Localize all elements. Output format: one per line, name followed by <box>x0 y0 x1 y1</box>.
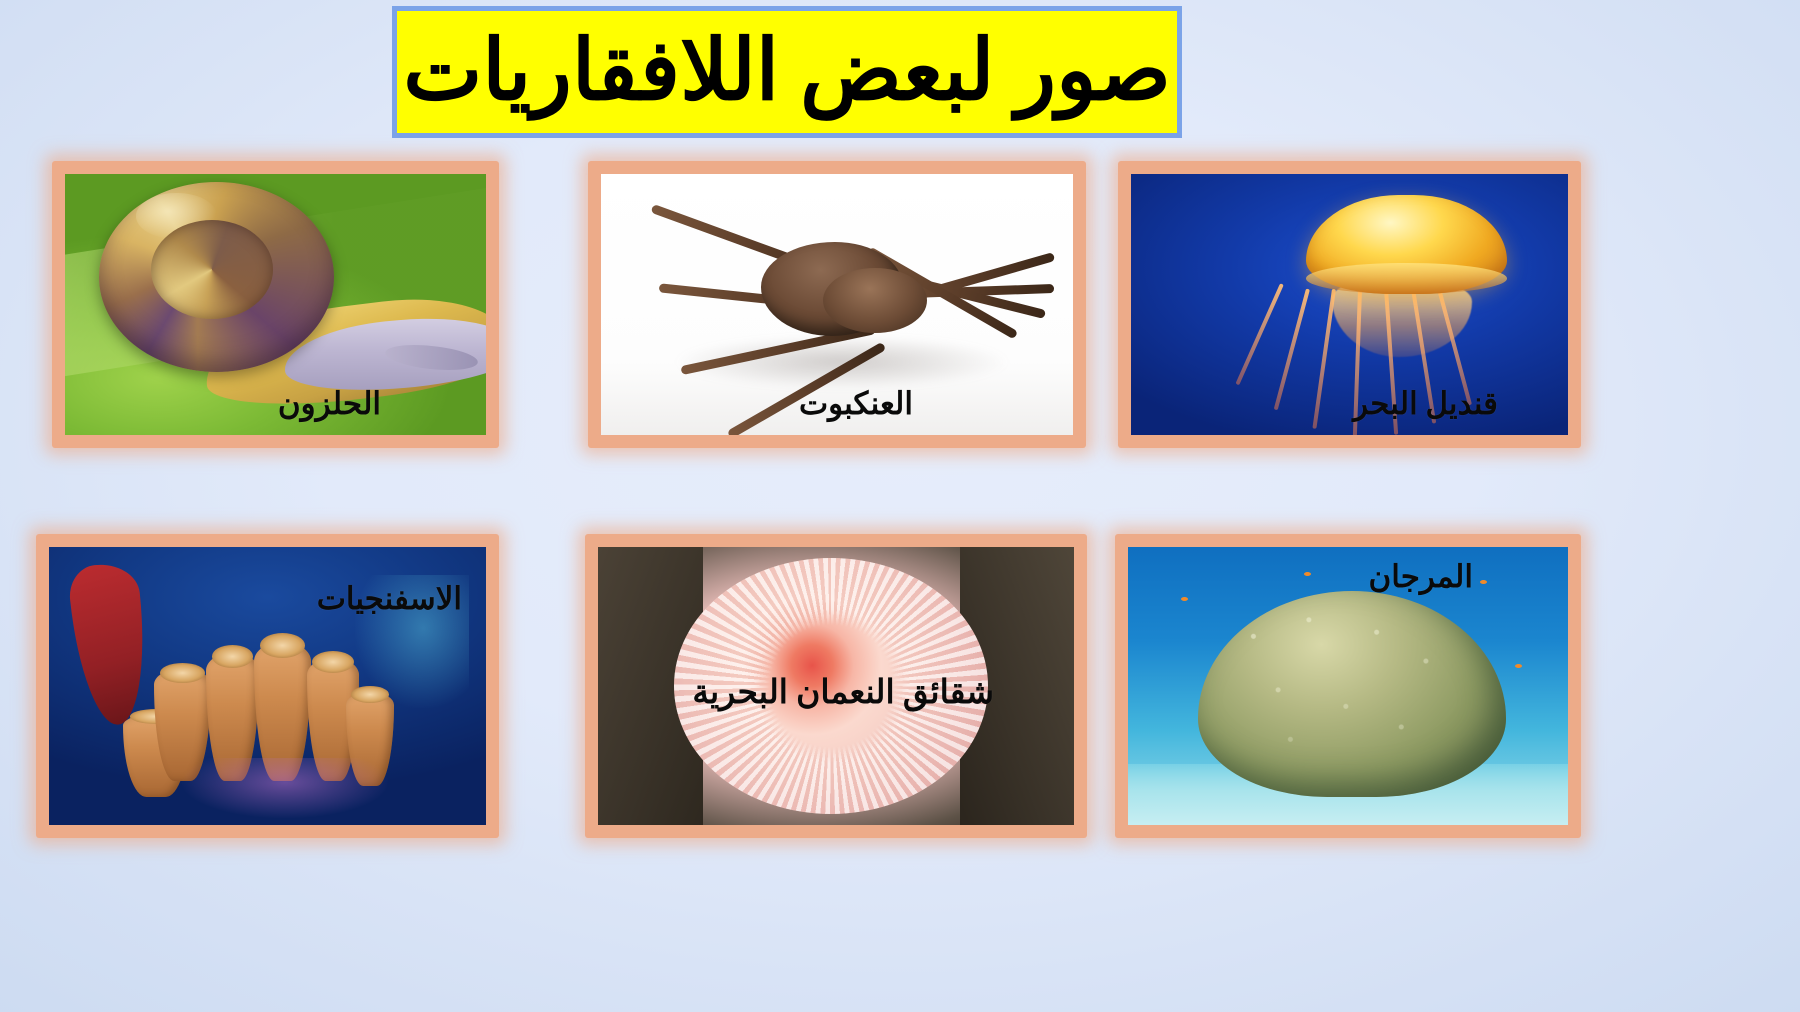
jellyfish-tentacle-6 <box>1273 288 1309 410</box>
fish-icon-2 <box>1480 580 1487 584</box>
caption-sponges: الاسفنجيات <box>317 581 462 617</box>
shell-highlight <box>136 193 216 239</box>
gallery-item-coral[interactable]: المرجان <box>1115 534 1581 838</box>
caption-coral: المرجان <box>1369 559 1473 595</box>
spider-cephalothorax <box>823 268 927 333</box>
gallery-item-jellyfish[interactable]: قنديل البحر <box>1118 161 1581 448</box>
gallery-item-spider[interactable]: العنكبوت <box>588 161 1086 448</box>
fish-icon-3 <box>1515 664 1522 668</box>
caption-jellyfish: قنديل البحر <box>1353 386 1498 422</box>
gallery-item-snail[interactable]: الحلزون <box>52 161 499 448</box>
fish-icon-1 <box>1181 597 1188 601</box>
gallery-item-sponges[interactable]: الاسفنجيات <box>36 534 499 838</box>
caption-spider: العنكبوت <box>799 386 913 422</box>
coral-photo: المرجان <box>1128 547 1568 825</box>
caption-anemone: شقائق النعمان البحرية <box>692 672 994 712</box>
fish-icon-4 <box>1304 572 1311 576</box>
coral-head <box>1198 591 1506 797</box>
snail-shell-shape <box>99 182 335 373</box>
spider-photo: العنكبوت <box>601 174 1073 435</box>
jellyfish-bell-rim <box>1306 263 1507 294</box>
page-title-box: صور لبعض اللافقاريات <box>392 6 1182 138</box>
snail-photo: الحلزون <box>65 174 486 435</box>
page-title: صور لبعض اللافقاريات <box>403 28 1171 116</box>
red-sea-fan <box>67 560 153 728</box>
caption-snail: الحلزون <box>278 386 381 422</box>
gallery-item-anemone[interactable]: شقائق النعمان البحرية <box>585 534 1087 838</box>
jellyfish-photo: قنديل البحر <box>1131 174 1568 435</box>
invertebrates-gallery: الحلزون العنكبوت <box>0 150 1800 940</box>
jellyfish-tentacle-1 <box>1312 289 1336 429</box>
jellyfish-tentacle-7 <box>1235 283 1283 385</box>
anemone-photo: شقائق النعمان البحرية <box>598 547 1074 825</box>
reef-purple-growth <box>180 758 390 819</box>
sponges-photo: الاسفنجيات <box>49 547 486 825</box>
